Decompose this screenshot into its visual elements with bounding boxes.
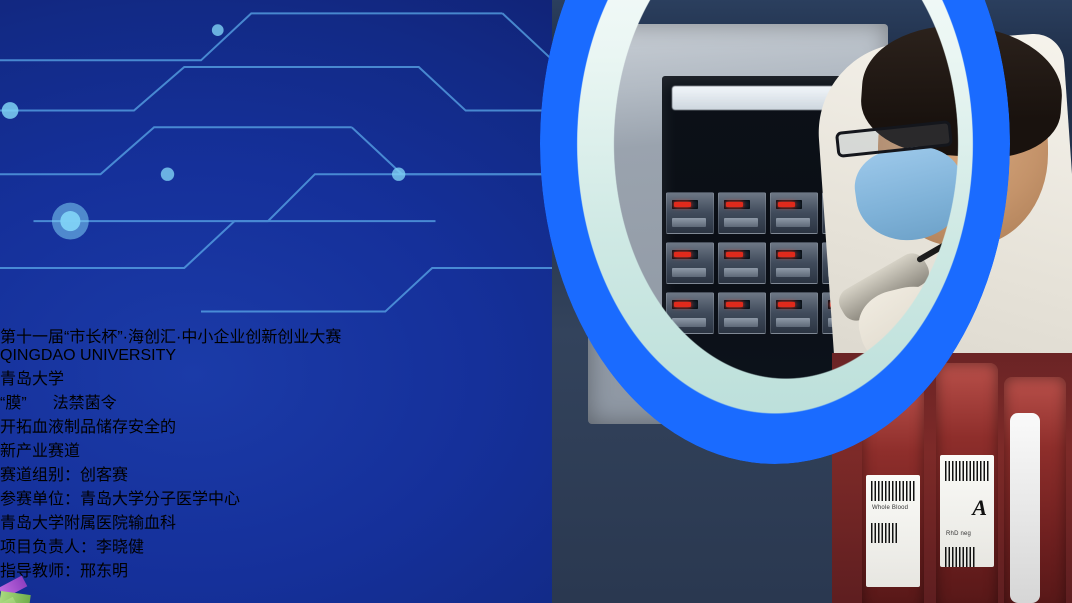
- blood-bag-label: A RhD neg: [940, 455, 994, 567]
- blood-bag-tube: [1010, 413, 1040, 603]
- bag-label-blood-type: A: [972, 495, 987, 521]
- blood-bag: A RhD neg: [936, 363, 998, 603]
- title-keyword: 膜: [5, 395, 21, 412]
- bag-label-misc: Whole Blood: [872, 505, 908, 511]
- blood-bag-label: Whole Blood: [866, 475, 920, 587]
- title-rest: 法禁菌令: [53, 395, 117, 412]
- poster-root: Whole Blood A RhD neg: [0, 0, 1072, 603]
- bag-label-rh: RhD neg: [946, 531, 971, 537]
- title-close-quote: ”: [21, 395, 26, 412]
